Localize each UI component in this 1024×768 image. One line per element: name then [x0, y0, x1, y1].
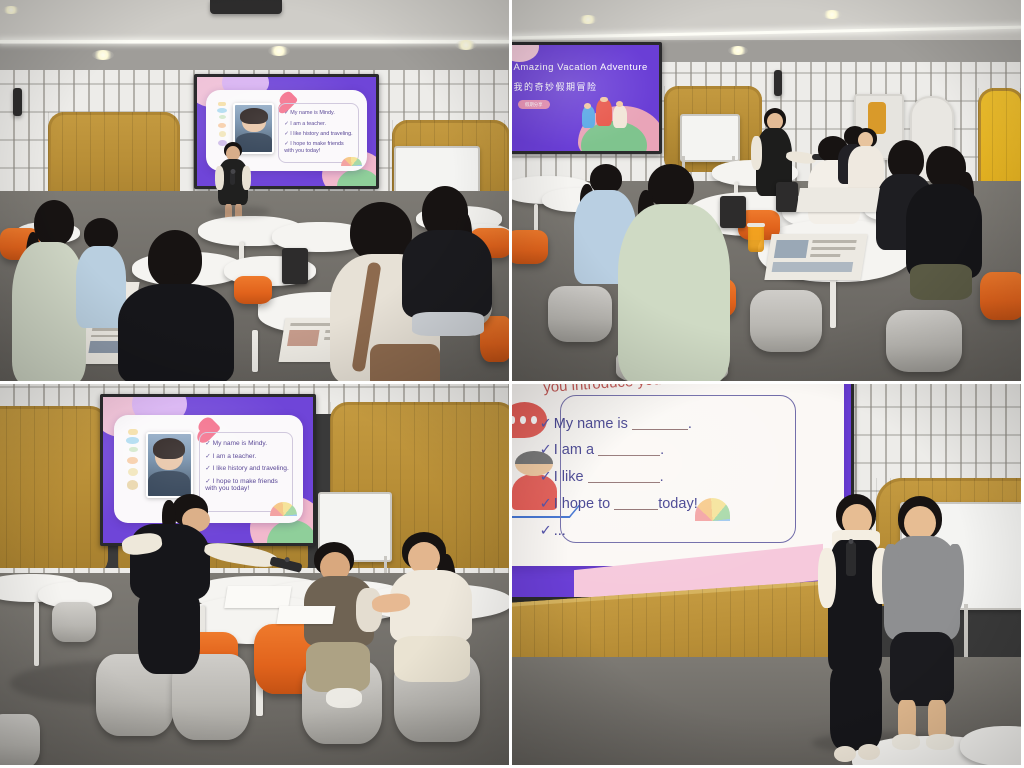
shoulder-bag [370, 344, 440, 381]
drink-cup [748, 226, 764, 252]
paper-sheet [224, 586, 291, 608]
student-torso [12, 242, 86, 381]
downlight [455, 40, 477, 50]
portrait-body [148, 471, 190, 496]
presenter [110, 494, 270, 674]
projector-screen: Amazing Vacation Adventure 我的奇妙假期冒险 假期分享 [512, 42, 662, 154]
stool-grey [0, 714, 40, 765]
student-torso [618, 204, 730, 381]
presenter-leg [138, 590, 200, 674]
presenter-arm [751, 136, 762, 170]
downlight [822, 10, 842, 19]
downlight [728, 46, 748, 55]
portable-speaker [282, 248, 308, 284]
presenter-skirt [830, 662, 882, 750]
boy-shoe [326, 688, 362, 708]
student-torso [118, 284, 234, 381]
student-leg [910, 264, 972, 300]
slide-bullet: ✓ I like history and traveling. [205, 465, 286, 473]
stool-grey [548, 286, 612, 342]
stool-orange [512, 230, 548, 264]
wall-speaker [13, 88, 22, 116]
student-arm [946, 544, 964, 612]
table-leg [34, 602, 39, 666]
ceiling-light-strip [0, 40, 509, 43]
student-hair [34, 200, 74, 246]
presenter-arm [215, 166, 224, 190]
slide-line: ✓... [540, 523, 566, 539]
projector-screen: you introduce yourself to everyone? ✓My … [512, 384, 854, 600]
boy-leg [306, 642, 370, 692]
paper-sheet [277, 606, 336, 624]
screen-surface: Amazing Vacation Adventure 我的奇妙假期冒险 假期分享 [512, 45, 659, 151]
photo-top-right[interactable]: Amazing Vacation Adventure 我的奇妙假期冒险 假期分享 [512, 0, 1021, 381]
student-standing [884, 496, 960, 760]
slide-illustration-kids [581, 90, 632, 132]
slide-bullet: ✓ I am a teacher. [205, 453, 286, 461]
stool-grey [886, 310, 962, 372]
student-hair [648, 164, 694, 208]
presenter [820, 494, 890, 765]
presenter-arm-extended [203, 540, 279, 571]
table-leg [830, 272, 836, 328]
slide-line: ✓My name is . [540, 416, 692, 432]
stool-grey [750, 290, 822, 352]
downlight [2, 6, 20, 14]
photo-collage: ✓ My name is Mindy. ✓ I am a teacher. ✓ … [0, 0, 1024, 768]
woman-leg [394, 636, 470, 682]
newspaper [796, 188, 880, 212]
slide-title-en: Amazing Vacation Adventure [514, 62, 648, 73]
screen-surface: you introduce yourself to everyone? ✓My … [512, 384, 851, 597]
slide-bullet: ✓ I hope to make friends with you today! [205, 478, 286, 493]
slide-introduce: you introduce yourself to everyone? ✓My … [512, 384, 851, 597]
slide-line: ✓I hope to today! [540, 496, 698, 512]
student-shorts [890, 632, 954, 706]
student-arm [882, 544, 900, 614]
wood-wall-accent [0, 406, 108, 576]
downlight [92, 50, 114, 60]
stool-orange [234, 276, 272, 304]
student [906, 146, 982, 278]
whiteboard [680, 114, 740, 162]
student-shoe [926, 734, 954, 750]
table [960, 726, 1021, 765]
presenter-shoe [858, 744, 880, 760]
student-woman [386, 532, 490, 702]
microphone [846, 542, 856, 576]
presenter-arm [818, 548, 836, 608]
slide-blob [512, 45, 539, 62]
student-shoe [892, 734, 920, 750]
student-boy [300, 542, 384, 710]
slide-bullet: ✓ My name is Mindy. [205, 440, 286, 448]
presenter-shoe [834, 746, 856, 762]
photo-bottom-left[interactable]: ✓ My name is Mindy. ✓ I am a teacher. ✓ … [0, 384, 509, 765]
slide-line: ✓I like . [540, 469, 664, 485]
slide-bullet: ✓ My name is Mindy. [284, 110, 353, 116]
newspaper [764, 234, 867, 280]
student [12, 200, 86, 381]
student [398, 186, 492, 346]
ceiling-projector [210, 0, 282, 14]
slide-badge: 假期分享 [518, 100, 550, 109]
rainbow-icon [341, 157, 362, 166]
teacher-portrait [146, 432, 193, 499]
portable-speaker [720, 196, 746, 228]
downlight [578, 15, 598, 24]
stool-orange [980, 272, 1021, 320]
wall-speaker [774, 70, 782, 96]
portrait-hair [240, 108, 267, 124]
portable-speaker [776, 182, 798, 212]
photo-bottom-right[interactable]: you introduce yourself to everyone? ✓My … [512, 384, 1021, 765]
photo-top-left[interactable]: ✓ My name is Mindy. ✓ I am a teacher. ✓ … [0, 0, 509, 381]
slide-bullet: ✓ I am a teacher. [284, 121, 353, 127]
student-leg [412, 312, 484, 336]
slide-bullet: ✓ I like history and traveling. [284, 131, 353, 137]
student [118, 230, 234, 381]
table-leg [252, 330, 258, 372]
presenter-arm [242, 166, 251, 190]
slide-bullet-list: ✓ My name is Mindy. ✓ I am a teacher. ✓ … [278, 103, 359, 163]
student-head [904, 506, 936, 540]
portrait-hair [153, 438, 185, 459]
downlight [268, 46, 290, 56]
slide-line: ✓I am a . [540, 442, 665, 458]
student [618, 164, 730, 381]
floor-shadow [210, 206, 270, 218]
stool-grey [52, 602, 96, 642]
microphone [230, 172, 235, 185]
student-torso [402, 230, 492, 318]
slide-bullet: ✓ I hope to make friends with you today! [284, 141, 353, 153]
slide-vacation: Amazing Vacation Adventure 我的奇妙假期冒险 假期分享 [512, 45, 659, 151]
